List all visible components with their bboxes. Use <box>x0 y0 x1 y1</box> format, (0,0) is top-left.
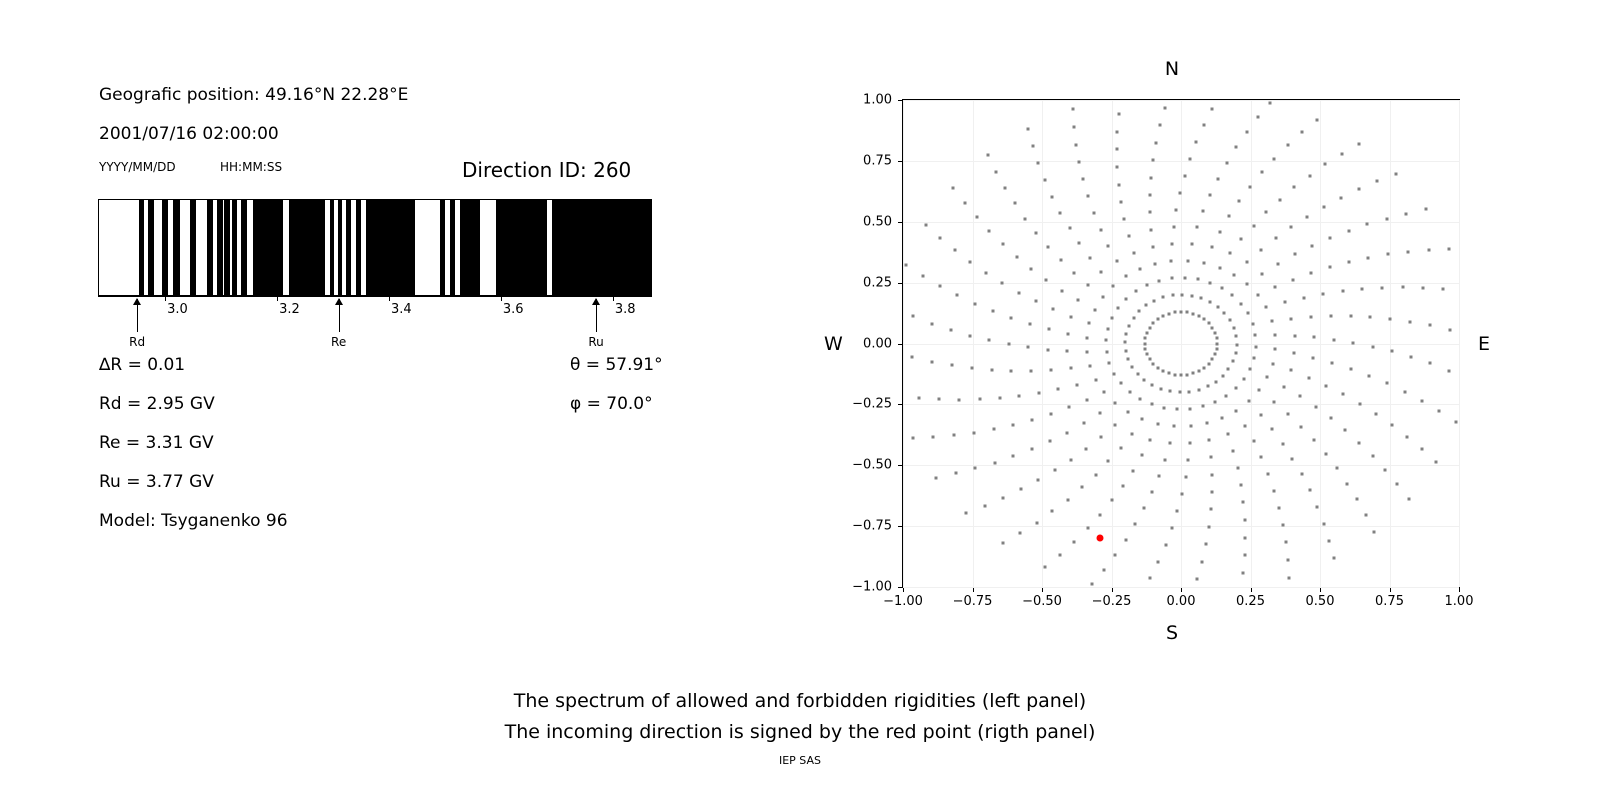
direction-point <box>1019 532 1022 535</box>
direction-point <box>1088 322 1091 325</box>
direction-point <box>1361 288 1364 291</box>
figure-caption: The spectrum of allowed and forbidden ri… <box>0 686 1600 748</box>
y-tick-label: 0.75 <box>840 153 892 168</box>
direction-point <box>1132 251 1135 254</box>
direction-point <box>955 294 958 297</box>
direction-point <box>1401 286 1404 289</box>
direction-point <box>1407 498 1410 501</box>
direction-point <box>1159 124 1162 127</box>
direction-point <box>1273 157 1276 160</box>
direction-point <box>1173 425 1176 428</box>
direction-point <box>1086 527 1089 530</box>
direction-point <box>1026 127 1029 130</box>
direction-point <box>1202 124 1205 127</box>
direction-point <box>1306 215 1309 218</box>
direction-point <box>1186 311 1189 314</box>
direction-point <box>1120 200 1123 203</box>
direction-point <box>1235 409 1238 412</box>
direction-point <box>1013 202 1016 205</box>
direction-point <box>1098 412 1101 415</box>
direction-point <box>990 368 993 371</box>
direction-point <box>1003 186 1006 189</box>
direction-point <box>1196 226 1199 229</box>
direction-point <box>1368 374 1371 377</box>
direction-point <box>1358 441 1361 444</box>
direction-point <box>1214 400 1217 403</box>
x-tick-label: 0.25 <box>1236 594 1265 609</box>
direction-point <box>1235 343 1238 346</box>
direction-point <box>1037 479 1040 482</box>
direction-point <box>1146 331 1149 334</box>
direction-point <box>950 364 953 367</box>
direction-point <box>1427 248 1430 251</box>
direction-point <box>1002 496 1005 499</box>
direction-point <box>1310 272 1313 275</box>
direction-point <box>1073 272 1076 275</box>
direction-point <box>974 467 977 470</box>
x-tick-mark <box>1042 588 1043 592</box>
direction-point <box>1093 308 1096 311</box>
direction-point <box>1293 186 1296 189</box>
direction-point <box>1200 297 1203 300</box>
direction-point <box>1339 196 1342 199</box>
direction-point <box>1236 466 1239 469</box>
direction-point <box>1210 456 1213 459</box>
direction-point <box>1289 369 1292 372</box>
direction-point <box>1210 491 1213 494</box>
direction-point <box>1239 484 1242 487</box>
gridline-horizontal <box>903 222 1459 223</box>
direction-point <box>1288 577 1291 580</box>
direction-point <box>975 216 978 219</box>
direction-point <box>1265 306 1268 309</box>
direction-point <box>1119 446 1122 449</box>
direction-point <box>1148 358 1151 361</box>
direction-point <box>1127 234 1130 237</box>
x-tick-mark <box>1459 588 1460 592</box>
direction-point <box>1148 326 1151 329</box>
incoming-direction-point <box>1097 535 1104 542</box>
direction-point <box>1066 498 1069 501</box>
direction-point <box>1082 178 1085 181</box>
direction-point <box>1191 243 1194 246</box>
direction-point <box>1373 530 1376 533</box>
x-tick-label: −0.50 <box>1022 594 1062 609</box>
direction-point <box>1371 345 1374 348</box>
direction-point <box>1325 384 1328 387</box>
direction-point <box>1031 145 1034 148</box>
direction-point <box>1205 422 1208 425</box>
direction-point <box>1344 429 1347 432</box>
direction-point <box>998 396 1001 399</box>
direction-point <box>1277 262 1280 265</box>
direction-point <box>1030 369 1033 372</box>
direction-point <box>1065 431 1068 434</box>
direction-point <box>1024 217 1027 220</box>
x-tick-label: 1.00 <box>1445 594 1474 609</box>
x-tick-mark <box>1251 588 1252 592</box>
direction-point <box>1157 475 1160 478</box>
gridline-horizontal <box>903 526 1459 527</box>
direction-point <box>1001 542 1004 545</box>
direction-point <box>1196 278 1199 281</box>
direction-point <box>921 274 924 277</box>
direction-point <box>1175 208 1178 211</box>
direction-point <box>1179 191 1182 194</box>
direction-point <box>1066 332 1069 335</box>
direction-point <box>1299 425 1302 428</box>
direction-point <box>1048 440 1051 443</box>
direction-point <box>1150 491 1153 494</box>
direction-point <box>1171 294 1174 297</box>
direction-point <box>1349 315 1352 318</box>
direction-point <box>1145 304 1148 307</box>
direction-point <box>1195 578 1198 581</box>
direction-point <box>1282 385 1285 388</box>
direction-point <box>1051 510 1054 513</box>
direction-map-panel: N S W E −1.00−0.75−0.50−0.250.000.250.50… <box>0 0 1600 660</box>
direction-point <box>1333 557 1336 560</box>
direction-point <box>1256 294 1259 297</box>
direction-point <box>1421 400 1424 403</box>
direction-point <box>1244 536 1247 539</box>
direction-point <box>1164 106 1167 109</box>
direction-point <box>1164 544 1167 547</box>
direction-point <box>1270 319 1273 322</box>
direction-point <box>1128 324 1131 327</box>
direction-point <box>1307 376 1310 379</box>
direction-point <box>1211 358 1214 361</box>
direction-point <box>1124 275 1127 278</box>
direction-point <box>1099 228 1102 231</box>
direction-point <box>1037 162 1040 165</box>
direction-point <box>1037 392 1040 395</box>
direction-point <box>1449 328 1452 331</box>
direction-point <box>1035 521 1038 524</box>
direction-point <box>1075 143 1078 146</box>
direction-point <box>1203 366 1206 369</box>
direction-point <box>1294 253 1297 256</box>
direction-point <box>1127 358 1130 361</box>
direction-point <box>1329 236 1332 239</box>
direction-point <box>1049 412 1052 415</box>
direction-point <box>1167 372 1170 375</box>
direction-point <box>1176 510 1179 513</box>
direction-point <box>1102 568 1105 571</box>
direction-point <box>1085 336 1088 339</box>
direction-point <box>1260 249 1263 252</box>
direction-point <box>1218 266 1221 269</box>
x-tick-mark <box>1390 588 1391 592</box>
direction-point <box>1207 322 1210 325</box>
direction-point <box>1094 378 1097 381</box>
direction-point <box>1410 356 1413 359</box>
direction-point <box>1080 486 1083 489</box>
direction-point <box>1120 382 1123 385</box>
direction-point <box>1198 315 1201 318</box>
direction-point <box>1085 447 1088 450</box>
direction-point <box>924 223 927 226</box>
direction-point <box>1044 566 1047 569</box>
direction-point <box>1202 405 1205 408</box>
direction-point <box>1151 384 1154 387</box>
direction-point <box>1134 523 1137 526</box>
x-tick-label: 0.00 <box>1167 594 1196 609</box>
direction-point <box>1369 316 1372 319</box>
direction-point <box>938 398 941 401</box>
direction-point <box>1007 343 1010 346</box>
direction-point <box>1047 328 1050 331</box>
direction-point <box>1429 362 1432 365</box>
direction-point <box>1300 131 1303 134</box>
direction-point <box>1203 262 1206 265</box>
direction-point <box>1214 380 1217 383</box>
direction-point <box>1407 250 1410 253</box>
direction-point <box>1331 361 1334 364</box>
direction-point <box>984 271 987 274</box>
direction-point <box>1149 211 1152 214</box>
direction-point <box>949 328 952 331</box>
direction-point <box>1068 227 1071 230</box>
direction-point <box>1335 467 1338 470</box>
direction-point <box>1180 493 1183 496</box>
direction-point <box>1149 438 1152 441</box>
direction-point <box>1189 407 1192 410</box>
direction-point <box>1028 323 1031 326</box>
x-tick-label: −0.25 <box>1092 594 1132 609</box>
direction-point <box>1273 286 1276 289</box>
direction-point <box>992 428 995 431</box>
direction-point <box>1113 423 1116 426</box>
direction-point <box>1293 352 1296 355</box>
direction-point <box>1281 523 1284 526</box>
y-tick-mark <box>898 587 902 588</box>
direction-point <box>1116 306 1119 309</box>
direction-point <box>1060 259 1063 262</box>
direction-point <box>1121 484 1124 487</box>
direction-point <box>1188 390 1191 393</box>
direction-point <box>1404 390 1407 393</box>
direction-point <box>1105 339 1108 342</box>
direction-point <box>1131 469 1134 472</box>
direction-point <box>1356 498 1359 501</box>
direction-point <box>1284 541 1287 544</box>
direction-point <box>1239 302 1242 305</box>
direction-point <box>1272 489 1275 492</box>
direction-point <box>1047 246 1050 249</box>
direction-point <box>1347 229 1350 232</box>
direction-point <box>1225 161 1228 164</box>
direction-point <box>1161 369 1164 372</box>
direction-point <box>1314 406 1317 409</box>
direction-point <box>1216 177 1219 180</box>
direction-point <box>1183 174 1186 177</box>
direction-point <box>1149 193 1152 196</box>
footer-credit: IEP SAS <box>0 754 1600 767</box>
direction-point <box>1216 342 1219 345</box>
direction-point <box>1406 435 1409 438</box>
direction-point <box>1324 452 1327 455</box>
direction-point <box>1234 335 1237 338</box>
direction-point <box>984 504 987 507</box>
direction-point <box>1198 369 1201 372</box>
direction-point <box>1181 293 1184 296</box>
direction-point <box>1385 217 1388 220</box>
direction-point <box>1227 433 1230 436</box>
direction-point <box>1051 195 1054 198</box>
direction-point <box>930 360 933 363</box>
direction-point <box>1266 376 1269 379</box>
direction-point <box>1116 166 1119 169</box>
direction-point <box>1269 101 1272 104</box>
direction-point <box>1101 296 1104 299</box>
direction-point <box>1110 317 1113 320</box>
direction-point <box>1167 312 1170 315</box>
direction-point <box>1010 317 1013 320</box>
direction-point <box>932 436 935 439</box>
direction-point <box>930 322 933 325</box>
direction-point <box>1213 331 1216 334</box>
direction-point <box>1145 284 1148 287</box>
direction-point <box>1150 176 1153 179</box>
direction-point <box>1180 374 1183 377</box>
direction-point <box>1391 424 1394 427</box>
direction-point <box>973 302 976 305</box>
direction-point <box>1010 369 1013 372</box>
y-tick-label: −1.00 <box>840 580 892 595</box>
y-tick-mark <box>898 283 902 284</box>
direction-point <box>1274 348 1277 351</box>
direction-point <box>1290 317 1293 320</box>
direction-point <box>1329 315 1332 318</box>
direction-point <box>1357 188 1360 191</box>
direction-point <box>972 431 975 434</box>
direction-point <box>1136 372 1139 375</box>
direction-point <box>1246 261 1249 264</box>
y-tick-mark <box>898 344 902 345</box>
direction-point <box>1245 283 1248 286</box>
gridline-horizontal <box>903 100 1459 101</box>
direction-point <box>1087 284 1090 287</box>
x-tick-label: 0.50 <box>1306 594 1335 609</box>
direction-point <box>1068 406 1071 409</box>
direction-point <box>1155 141 1158 144</box>
direction-point <box>1211 107 1214 110</box>
direction-point <box>1324 163 1327 166</box>
direction-point <box>1192 312 1195 315</box>
direction-point <box>1228 215 1231 218</box>
direction-point <box>1308 174 1311 177</box>
direction-point <box>1375 180 1378 183</box>
direction-point <box>1232 450 1235 453</box>
y-tick-mark <box>898 526 902 527</box>
direction-point <box>1308 489 1311 492</box>
direction-point <box>1152 159 1155 162</box>
direction-point <box>1154 262 1157 265</box>
direction-point <box>1243 554 1246 557</box>
direction-point <box>1454 420 1457 423</box>
direction-point <box>1258 388 1261 391</box>
direction-point <box>1311 244 1314 247</box>
y-tick-mark <box>898 100 902 101</box>
direction-point <box>1233 273 1236 276</box>
direction-point <box>1322 292 1325 295</box>
direction-point <box>1082 422 1085 425</box>
gridline-horizontal <box>903 161 1459 162</box>
direction-point <box>1229 252 1232 255</box>
direction-point <box>1190 294 1193 297</box>
y-tick-mark <box>898 465 902 466</box>
direction-point <box>1162 296 1165 299</box>
direction-point <box>1152 362 1155 365</box>
direction-point <box>1125 349 1128 352</box>
direction-point <box>1157 279 1160 282</box>
direction-point <box>1371 455 1374 458</box>
direction-point <box>1265 211 1268 214</box>
direction-point <box>1189 424 1192 427</box>
direction-point <box>1287 559 1290 562</box>
direction-point <box>1108 361 1111 364</box>
direction-point <box>1272 400 1275 403</box>
direction-point <box>1215 347 1218 350</box>
direction-point <box>1069 458 1072 461</box>
direction-point <box>1168 441 1171 444</box>
direction-point <box>1180 310 1183 313</box>
direction-point <box>1070 315 1073 318</box>
direction-point <box>1252 224 1255 227</box>
direction-point <box>1059 553 1062 556</box>
direction-point <box>1072 125 1075 128</box>
direction-point <box>1332 338 1335 341</box>
direction-point <box>1066 350 1069 353</box>
direction-point <box>1186 373 1189 376</box>
direction-point <box>994 170 997 173</box>
direction-point <box>1059 211 1062 214</box>
direction-point <box>1107 460 1110 463</box>
y-tick-label: −0.25 <box>840 397 892 412</box>
direction-point <box>952 434 955 437</box>
direction-point <box>1442 287 1445 290</box>
direction-point <box>1170 260 1173 263</box>
direction-point <box>1447 369 1450 372</box>
direction-point <box>1103 390 1106 393</box>
y-tick-mark <box>898 404 902 405</box>
direction-point <box>1242 572 1245 575</box>
gridline-vertical <box>1459 100 1460 587</box>
y-tick-label: 0.50 <box>840 214 892 229</box>
direction-point <box>1389 318 1392 321</box>
direction-point <box>1244 424 1247 427</box>
direction-point <box>1208 439 1211 442</box>
direction-point <box>1254 345 1257 348</box>
direction-point <box>1178 391 1181 394</box>
direction-point <box>1061 289 1064 292</box>
x-tick-mark <box>903 588 904 592</box>
direction-point <box>1312 356 1315 359</box>
direction-point <box>1277 506 1280 509</box>
direction-point <box>1187 459 1190 462</box>
direction-point <box>1243 518 1246 521</box>
direction-point <box>1169 390 1172 393</box>
direction-point <box>1352 341 1355 344</box>
direction-point <box>1134 290 1137 293</box>
direction-point <box>1188 442 1191 445</box>
direction-point <box>1204 543 1207 546</box>
direction-point <box>1274 334 1277 337</box>
direction-point <box>1043 179 1046 182</box>
direction-point <box>1218 230 1221 233</box>
direction-point <box>1197 388 1200 391</box>
